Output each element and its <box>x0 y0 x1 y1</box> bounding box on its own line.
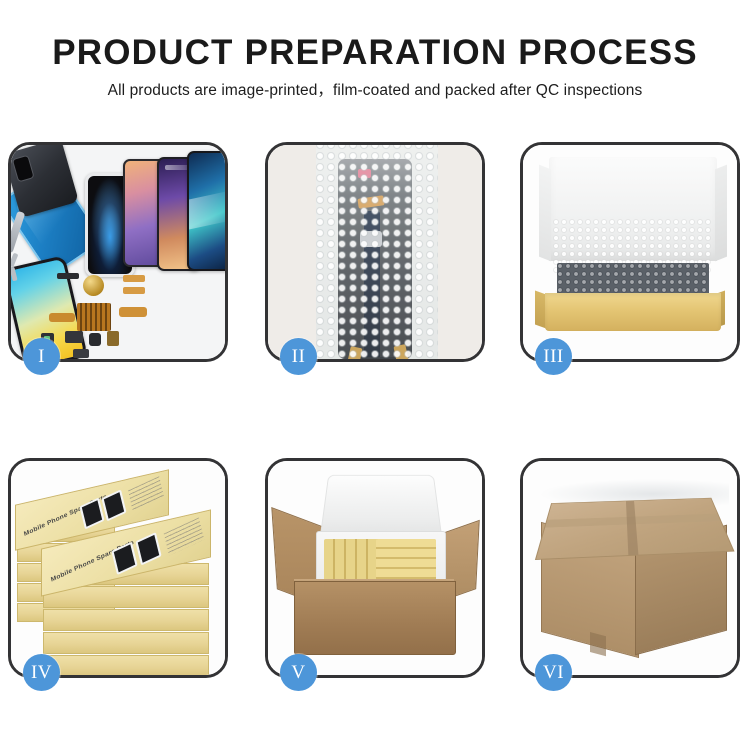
step-panel-5[interactable]: V <box>265 458 485 678</box>
page-title: PRODUCT PREPARATION PROCESS <box>0 0 750 74</box>
carton-front-icon <box>294 581 456 655</box>
step-badge-5: V <box>280 654 317 691</box>
step-3-image <box>523 145 737 359</box>
phone-screen-gradient-c-icon <box>187 151 225 271</box>
step-badge-1: I <box>23 338 60 375</box>
flex-cable-1-icon <box>49 313 75 322</box>
step-badge-3: III <box>535 338 572 375</box>
box-artwork-thumb-4 <box>135 532 161 565</box>
box-spec-lines-2 <box>164 517 204 555</box>
carton-seam-icon <box>626 501 638 555</box>
camera-module-icon <box>12 155 35 183</box>
flex-cable-2-icon <box>119 307 147 317</box>
step-2-image <box>268 145 482 359</box>
sim-tray-icon <box>73 349 89 358</box>
page-header: PRODUCT PREPARATION PROCESS All products… <box>0 0 750 101</box>
step-panel-1[interactable]: I <box>8 142 228 362</box>
step-panel-3[interactable]: III <box>520 142 740 362</box>
carton-tape-tab-1-icon <box>590 632 606 656</box>
step-panel-6[interactable]: VI <box>520 458 740 678</box>
earpiece-speaker-icon <box>57 273 79 279</box>
step-panel-2[interactable]: II <box>265 142 485 362</box>
step-badge-6: VI <box>535 654 572 691</box>
flex-cable-3-icon <box>123 275 145 282</box>
vibrator-part-icon <box>65 331 83 343</box>
bubble-texture-icon <box>316 145 438 359</box>
process-steps-grid: I II <box>8 142 742 679</box>
stacked-box-fr-3 <box>43 609 209 631</box>
screen-highlight-icon <box>189 190 225 229</box>
yellow-box-tray-icon <box>545 293 721 331</box>
step-panel-4[interactable]: Mobile Phone Spare Parts Mobile Phone Sp… <box>8 458 228 678</box>
step-5-image <box>268 461 482 675</box>
wireless-coil-icon <box>83 275 104 296</box>
step-6-image <box>523 461 737 675</box>
connector-part-icon <box>107 331 119 346</box>
flex-cable-4-icon <box>123 287 145 294</box>
box-stack-icon: Mobile Phone Spare Parts Mobile Phone Sp… <box>13 471 225 671</box>
sealed-carton-top-face-icon <box>535 498 735 560</box>
step-1-image <box>11 145 225 359</box>
button-part-icon <box>89 333 101 346</box>
box-spec-lines-1 <box>128 476 164 511</box>
step-badge-2: II <box>280 338 317 375</box>
step-badge-4: IV <box>23 654 60 691</box>
page-subtitle: All products are image-printed，film-coat… <box>0 74 750 101</box>
contact-grid-icon <box>77 303 111 331</box>
stacked-box-fr-5 <box>43 655 209 675</box>
stacked-box-fr-4 <box>43 632 209 654</box>
bubble-wrap-bag-icon <box>316 145 438 359</box>
step-4-image: Mobile Phone Spare Parts Mobile Phone Sp… <box>11 461 225 675</box>
